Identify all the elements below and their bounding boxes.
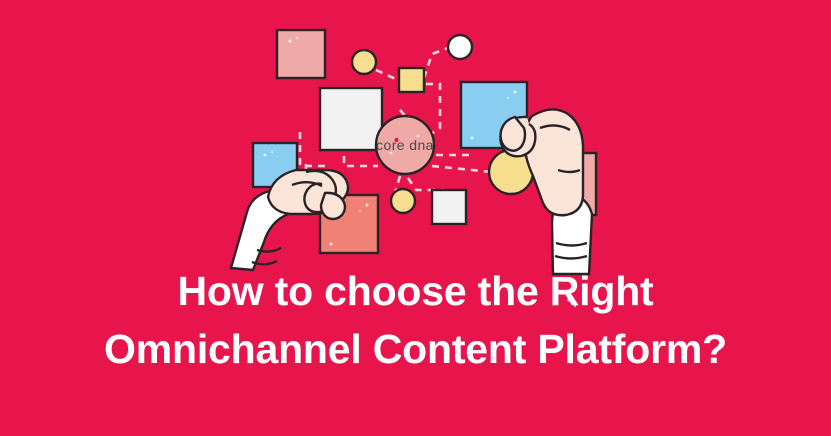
node-yellow-square-top xyxy=(399,68,424,92)
node-yellow-circle-top xyxy=(352,50,376,74)
node-pink-square-top-left xyxy=(277,30,325,78)
core-dna-logo-text: core dna xyxy=(376,137,434,153)
banner-root: .stk { stroke:#2b2225; stroke-width:2.4;… xyxy=(0,0,831,436)
node-white-square-small xyxy=(432,190,466,224)
headline-line-1: How to choose the Right xyxy=(0,262,831,320)
headline-line-2: Omnichannel Content Platform? xyxy=(0,320,831,378)
node-white-circle-top-right xyxy=(448,35,472,59)
node-white-square-large xyxy=(320,88,382,150)
page-title: How to choose the Right Omnichannel Cont… xyxy=(0,262,831,378)
core-dna-logo: core dna xyxy=(376,137,434,153)
core-dna-logo-dot xyxy=(394,138,398,142)
node-yellow-circle-center xyxy=(391,189,415,213)
